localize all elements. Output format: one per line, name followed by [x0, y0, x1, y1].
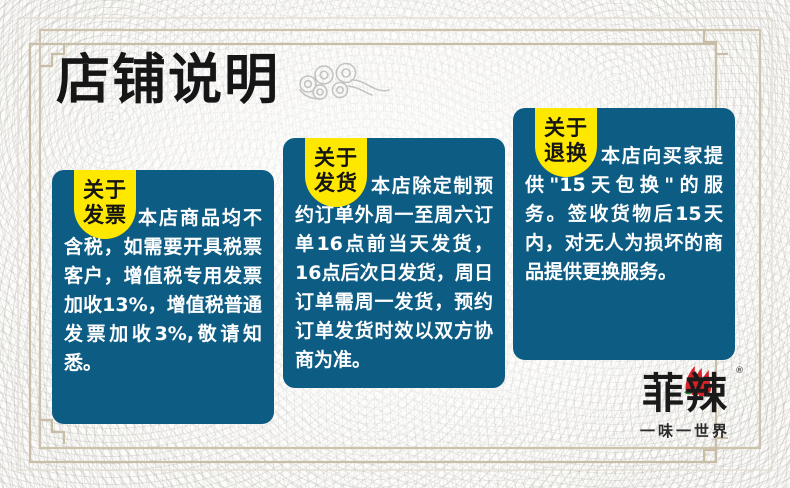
info-card-shipping: 关于 发货 本店除定制预约订单外周一至周六订单16点前当天发货，16点后次日发货… — [283, 138, 505, 388]
title-block: 店铺说明 — [56, 52, 390, 106]
store-description-banner: 店铺说明 关于 发票 本店商品均不含税，如需要 — [0, 0, 790, 488]
auspicious-cloud-icon — [294, 60, 390, 104]
badge-return: 关于 退换 — [535, 108, 597, 177]
info-card-invoice: 关于 发票 本店商品均不含税，如需要开具税票客户，增值税专用发票加收13%，增值… — [52, 170, 274, 424]
badge-invoice-line1: 关于 — [74, 177, 136, 202]
registered-trademark-icon: ® — [735, 366, 744, 376]
page-title: 店铺说明 — [56, 52, 280, 106]
badge-shipping-line2: 发货 — [305, 170, 367, 195]
info-card-return: 关于 退换 本店向买家提供"15天包换"的服务。签收货物后15天内，对无人为损坏… — [513, 108, 735, 360]
brand-name: 菲辣 — [642, 369, 728, 418]
brand-tagline: 一味一世界 — [620, 420, 750, 441]
badge-return-line1: 关于 — [535, 115, 597, 140]
badge-invoice-line2: 发票 — [74, 202, 136, 227]
badge-shipping: 关于 发货 — [305, 138, 367, 207]
badge-shipping-line1: 关于 — [305, 145, 367, 170]
brand-logo: 菲辣 ® 一味一世界 — [620, 368, 750, 446]
badge-return-line2: 退换 — [535, 140, 597, 165]
badge-invoice: 关于 发票 — [74, 170, 136, 239]
brand-logo-mark: 菲辣 ® — [620, 368, 750, 422]
